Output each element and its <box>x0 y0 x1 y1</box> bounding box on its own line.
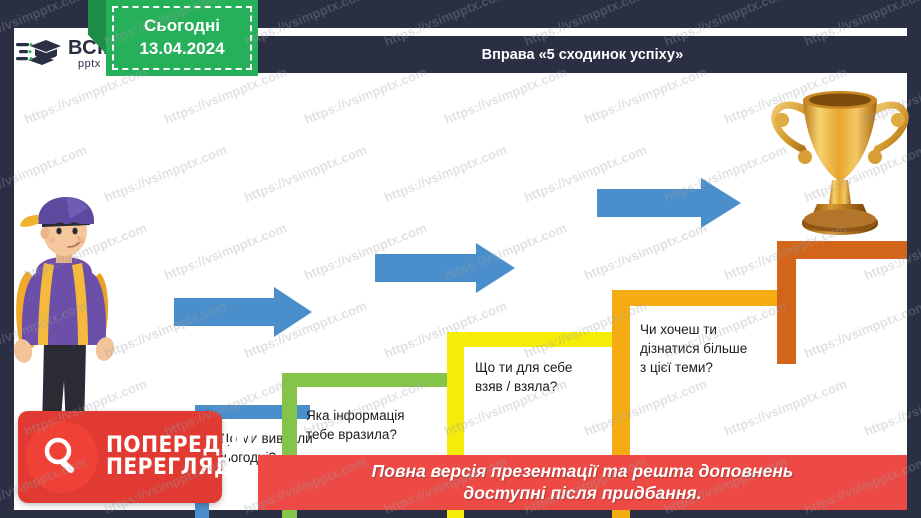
step-5-tread <box>777 241 907 259</box>
magnifier-icon <box>26 421 98 493</box>
date-flag: Сьогодні 13.04.2024 <box>106 0 258 76</box>
step-5-riser <box>777 241 796 364</box>
preview-badge: ПОПЕРЕДНІЙ ПЕРЕГЛЯД <box>18 411 222 503</box>
step-4-tread <box>612 290 787 306</box>
purchase-notice-banner: Повна версія презентації та решта доповн… <box>258 455 907 510</box>
step-2-tread <box>282 373 452 387</box>
step-2-text: Яка інформація тебе вразила? <box>306 406 446 444</box>
date-flag-date: 13.04.2024 <box>139 38 224 61</box>
step-3-tread <box>447 332 617 347</box>
step-3-text: Що ти для себе взяв / взяла? <box>475 358 625 396</box>
page-title: Вправа «5 сходинок успіху» <box>482 47 684 63</box>
date-flag-label: Сьогодні <box>144 15 220 38</box>
slide-canvas: ВСІМ pptx Сьогодні 13.04.2024 Вправа «5 … <box>0 0 921 518</box>
arrow-2 <box>375 243 515 293</box>
preview-badge-line2: ПЕРЕГЛЯД <box>106 457 264 479</box>
arrow-1 <box>174 287 312 337</box>
gold-trophy-illustration <box>765 78 915 243</box>
slide-title-bar: Вправа «5 сходинок успіху» <box>258 36 907 73</box>
graduation-cap-icon <box>16 34 62 74</box>
preview-badge-line1: ПОПЕРЕДНІЙ <box>106 435 264 457</box>
step-4-text: Чи хочеш ти дізнатися більше з цієї теми… <box>640 320 800 377</box>
arrow-3 <box>597 178 741 228</box>
step-5 <box>777 241 907 401</box>
banner-line1: Повна версія презентації та решта доповн… <box>372 461 794 483</box>
banner-line2: доступні після придбання. <box>463 483 701 505</box>
